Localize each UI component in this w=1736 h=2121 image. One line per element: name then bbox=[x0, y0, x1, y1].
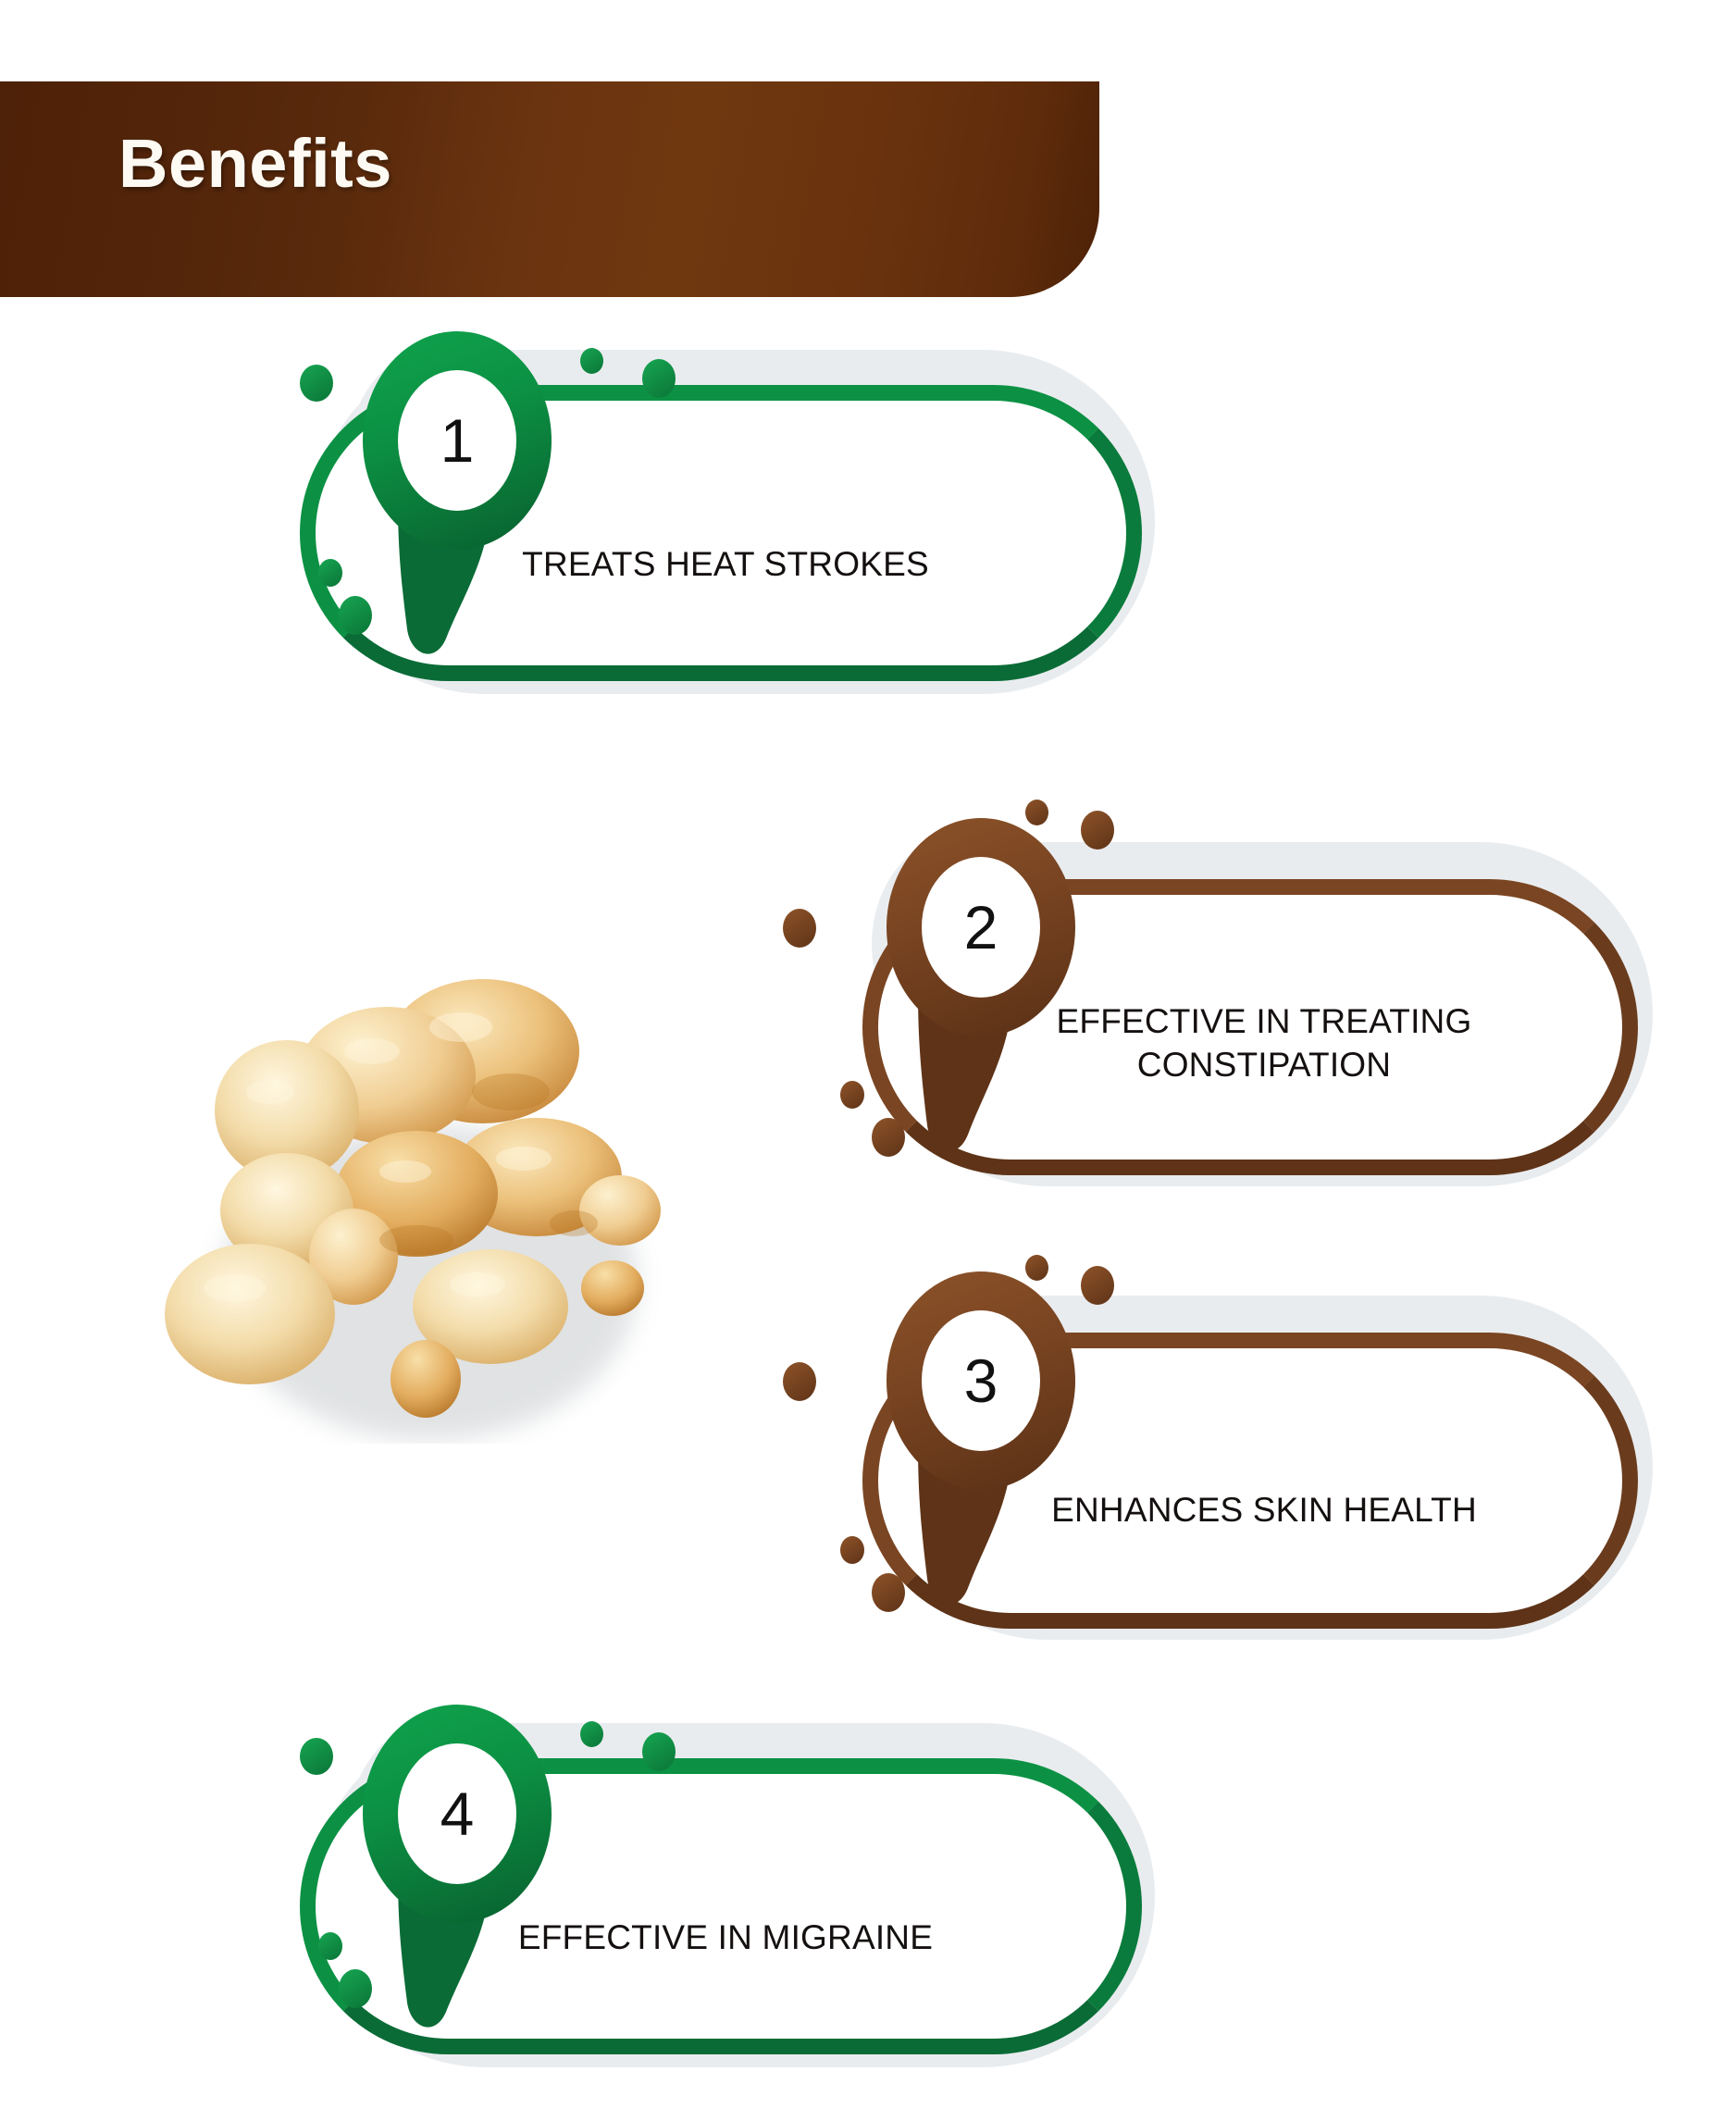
accent-dot-4a bbox=[300, 1738, 333, 1775]
page-title: Benefits bbox=[118, 130, 392, 198]
accent-dot-3d bbox=[840, 1536, 864, 1564]
accent-dot-4c bbox=[642, 1732, 676, 1771]
accent-dot-2c bbox=[1081, 811, 1114, 850]
benefit-label-3: ENHANCES SKIN HEALTH bbox=[977, 1488, 1551, 1532]
accent-dot-3b bbox=[1025, 1255, 1048, 1281]
accent-dot-1b bbox=[580, 348, 603, 374]
accent-dot-4e bbox=[339, 1969, 372, 2008]
accent-dot-4b bbox=[580, 1721, 603, 1747]
badge-number-2: 2 bbox=[964, 897, 998, 958]
benefit-label-4: EFFECTIVE IN MIGRAINE bbox=[420, 1916, 1031, 1959]
accent-dot-1c bbox=[642, 359, 676, 398]
benefit-label-2: EFFECTIVE IN TREATING CONSTIPATION bbox=[977, 999, 1551, 1087]
resin-illustration bbox=[139, 962, 713, 1444]
accent-dot-2d bbox=[840, 1081, 864, 1109]
accent-dot-3e bbox=[872, 1573, 905, 1612]
badge-number-4: 4 bbox=[440, 1783, 475, 1844]
accent-dot-2a bbox=[783, 909, 816, 948]
accent-dot-3c bbox=[1081, 1266, 1114, 1305]
accent-dot-2e bbox=[872, 1118, 905, 1157]
accent-dot-3a bbox=[783, 1362, 816, 1401]
benefit-label-1: TREATS HEAT STROKES bbox=[420, 542, 1031, 586]
accent-dot-1e bbox=[339, 596, 372, 635]
accent-dot-1d bbox=[318, 559, 342, 587]
badge-circle-2[interactable]: 2 bbox=[887, 818, 1075, 1036]
accent-dot-4d bbox=[318, 1932, 342, 1960]
frankincense-resin-image bbox=[139, 962, 713, 1444]
badge-number-3: 3 bbox=[964, 1350, 998, 1411]
accent-dot-2b bbox=[1025, 800, 1048, 825]
badge-circle-4[interactable]: 4 bbox=[363, 1705, 552, 1923]
accent-dot-1a bbox=[300, 365, 333, 402]
badge-number-1: 1 bbox=[440, 410, 475, 471]
badge-circle-1[interactable]: 1 bbox=[363, 331, 552, 550]
badge-circle-3[interactable]: 3 bbox=[887, 1271, 1075, 1490]
infographic-page: Benefits bbox=[0, 0, 1736, 2121]
